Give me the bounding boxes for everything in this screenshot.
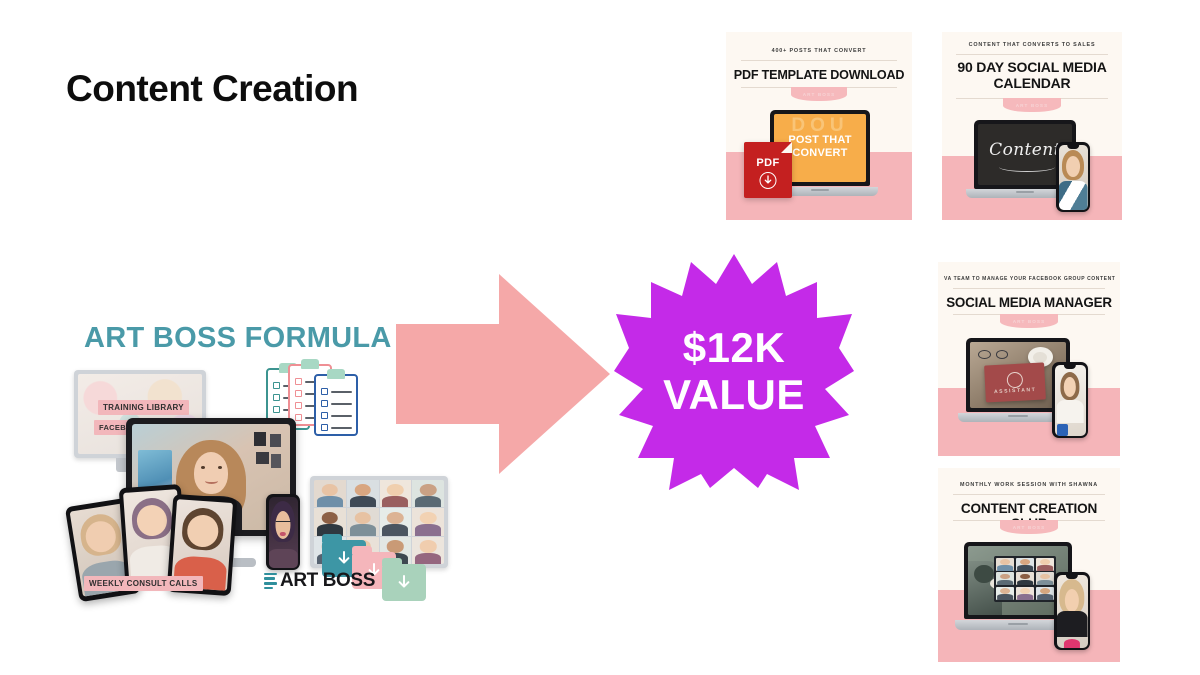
clipboard-clip — [301, 359, 319, 369]
brand-pill-text: ART BOSS — [1013, 319, 1046, 324]
pdf-download-badge: PDF — [744, 142, 792, 198]
art-boss-logo: ART BOSS — [264, 570, 375, 592]
brand-pill: ART BOSS — [1000, 314, 1058, 328]
label-training-library: TRAINING LIBRARY — [98, 400, 189, 415]
assistant-notebook: ASSISTANT — [984, 363, 1045, 403]
product-card-content-creation-club[interactable]: MONTHLY WORK SESSION WITH SHAWNA CONTENT… — [938, 468, 1120, 662]
glasses-icon — [978, 350, 1009, 359]
screen-underline-flourish — [999, 162, 1055, 172]
phone-screen-portrait — [1055, 365, 1086, 436]
slide-canvas: Content Creation ART BOSS FORMULA TRAINI… — [0, 0, 1200, 675]
notebook-emblem — [1007, 372, 1024, 389]
value-starburst-badge: $12K VALUE — [614, 252, 854, 490]
clipboard-icon — [314, 374, 358, 436]
clipboard-rows — [321, 388, 352, 436]
product-title: SOCIAL MEDIA MANAGER — [942, 295, 1116, 310]
download-arrow-icon — [760, 172, 777, 189]
phone-mockup — [1056, 142, 1090, 212]
brand-pill-text: ART BOSS — [803, 92, 836, 97]
laptop-screen — [968, 546, 1068, 615]
phone-screen-portrait — [1057, 575, 1088, 648]
label-weekly-consult-calls: WEEKLY CONSULT CALLS — [84, 576, 203, 591]
product-title: 90 DAY SOCIAL MEDIA CALENDAR — [946, 60, 1118, 91]
brand-pill-text: ART BOSS — [1013, 525, 1046, 530]
art-boss-logo-text: ART BOSS — [280, 570, 375, 592]
download-folder-icon — [382, 564, 426, 601]
pdf-badge-label: PDF — [744, 157, 792, 169]
product-eyebrow: VA TEAM TO MANAGE YOUR FACEBOOK GROUP CO… — [944, 276, 1114, 282]
phone-screen-portrait — [1059, 145, 1088, 210]
phone-mockup — [1054, 572, 1090, 650]
clipboard-clip — [327, 369, 345, 379]
brand-pill: ART BOSS — [791, 87, 847, 101]
brand-pill: ART BOSS — [1003, 98, 1061, 112]
art-boss-bars-icon — [264, 573, 277, 589]
product-card-90-day-social-media-calendar[interactable]: CONTENT THAT CONVERTS TO SALES 90 DAY SO… — [942, 32, 1122, 220]
divider — [741, 60, 897, 61]
bundle-collage: TRAINING LIBRARY — [70, 364, 450, 612]
brand-pill-text: ART BOSS — [1016, 103, 1049, 108]
zoom-call-grid — [994, 556, 1056, 602]
art-boss-formula-bundle: ART BOSS FORMULA TRAINING LIBRARY — [70, 322, 450, 612]
product-title: PDF TEMPLATE DOWNLOAD — [730, 68, 908, 82]
product-card-social-media-manager[interactable]: VA TEAM TO MANAGE YOUR FACEBOOK GROUP CO… — [938, 262, 1120, 456]
product-eyebrow: 400+ POSTS THAT CONVERT — [732, 48, 906, 54]
product-eyebrow: MONTHLY WORK SESSION WITH SHAWNA — [944, 482, 1114, 488]
product-card-pdf-template-download[interactable]: 400+ POSTS THAT CONVERT PDF TEMPLATE DOW… — [726, 32, 912, 220]
notebook-text: ASSISTANT — [986, 387, 1046, 396]
divider — [953, 288, 1106, 289]
divider — [953, 494, 1106, 495]
member-selfie — [269, 497, 298, 568]
member-phone-device — [266, 494, 300, 570]
right-arrow-icon — [396, 272, 612, 476]
page-title: Content Creation — [66, 68, 358, 110]
bundle-title: ART BOSS FORMULA — [84, 322, 392, 355]
brand-pill: ART BOSS — [1000, 520, 1058, 534]
product-eyebrow: CONTENT THAT CONVERTS TO SALES — [948, 42, 1116, 48]
divider — [956, 54, 1107, 55]
phone-mockup — [1052, 362, 1088, 438]
